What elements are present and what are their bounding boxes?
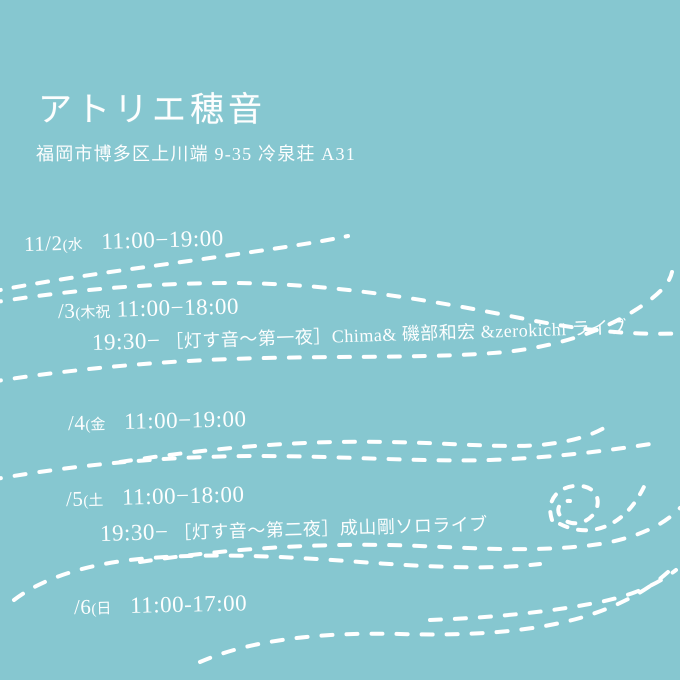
schedule-hours: 11:00−18:00: [103, 482, 245, 510]
schedule-row: /3(木祝 11:00−18:00: [58, 294, 240, 324]
schedule-date: /6: [74, 595, 92, 619]
schedule-extra-time: 19:30−: [100, 519, 169, 546]
schedule-hours: 11:00-17:00: [111, 590, 247, 618]
schedule-extra-event: ［灯す音〜第一夜］Chima& 磯部和宏 &zerokichi ライブ: [160, 317, 627, 352]
schedule-extra-time: 19:30−: [92, 328, 161, 355]
schedule-row: /6(日 11:00-17:00: [74, 590, 248, 620]
schedule-weekday: (木祝: [75, 305, 110, 322]
schedule-row: /4(金 11:00−19:00: [68, 406, 247, 436]
schedule-date: 11/2: [24, 231, 63, 256]
schedule-date: /5: [66, 487, 84, 511]
schedule-extra-event: ［灯す音〜第二夜］成山剛ソロライブ: [168, 514, 488, 543]
schedule-hours: 11:00−19:00: [105, 406, 247, 434]
schedule-hours: 11:00−19:00: [82, 225, 224, 254]
schedule-hours: 11:00−18:00: [110, 294, 239, 322]
schedule-weekday: (金: [85, 417, 105, 433]
poster-canvas: アトリエ穂音 福岡市博多区上川端 9-35 冷泉荘 A31 11/2(水 11:…: [0, 0, 680, 680]
schedule-row: 11/2(水 11:00−19:00: [24, 225, 224, 257]
schedule-weekday: (水: [62, 237, 82, 254]
schedule-row-extra: 19:30− ［灯す音〜第二夜］成山剛ソロライブ: [100, 510, 488, 547]
schedule-weekday: (土: [83, 493, 103, 509]
schedule-weekday: (日: [91, 601, 111, 617]
schedule-list: 11/2(水 11:00−19:00 /3(木祝 11:00−18:00 19:…: [0, 0, 680, 680]
schedule-date: /4: [68, 411, 86, 435]
schedule-date: /3: [58, 299, 76, 323]
schedule-row: /5(土 11:00−18:00: [66, 482, 245, 512]
